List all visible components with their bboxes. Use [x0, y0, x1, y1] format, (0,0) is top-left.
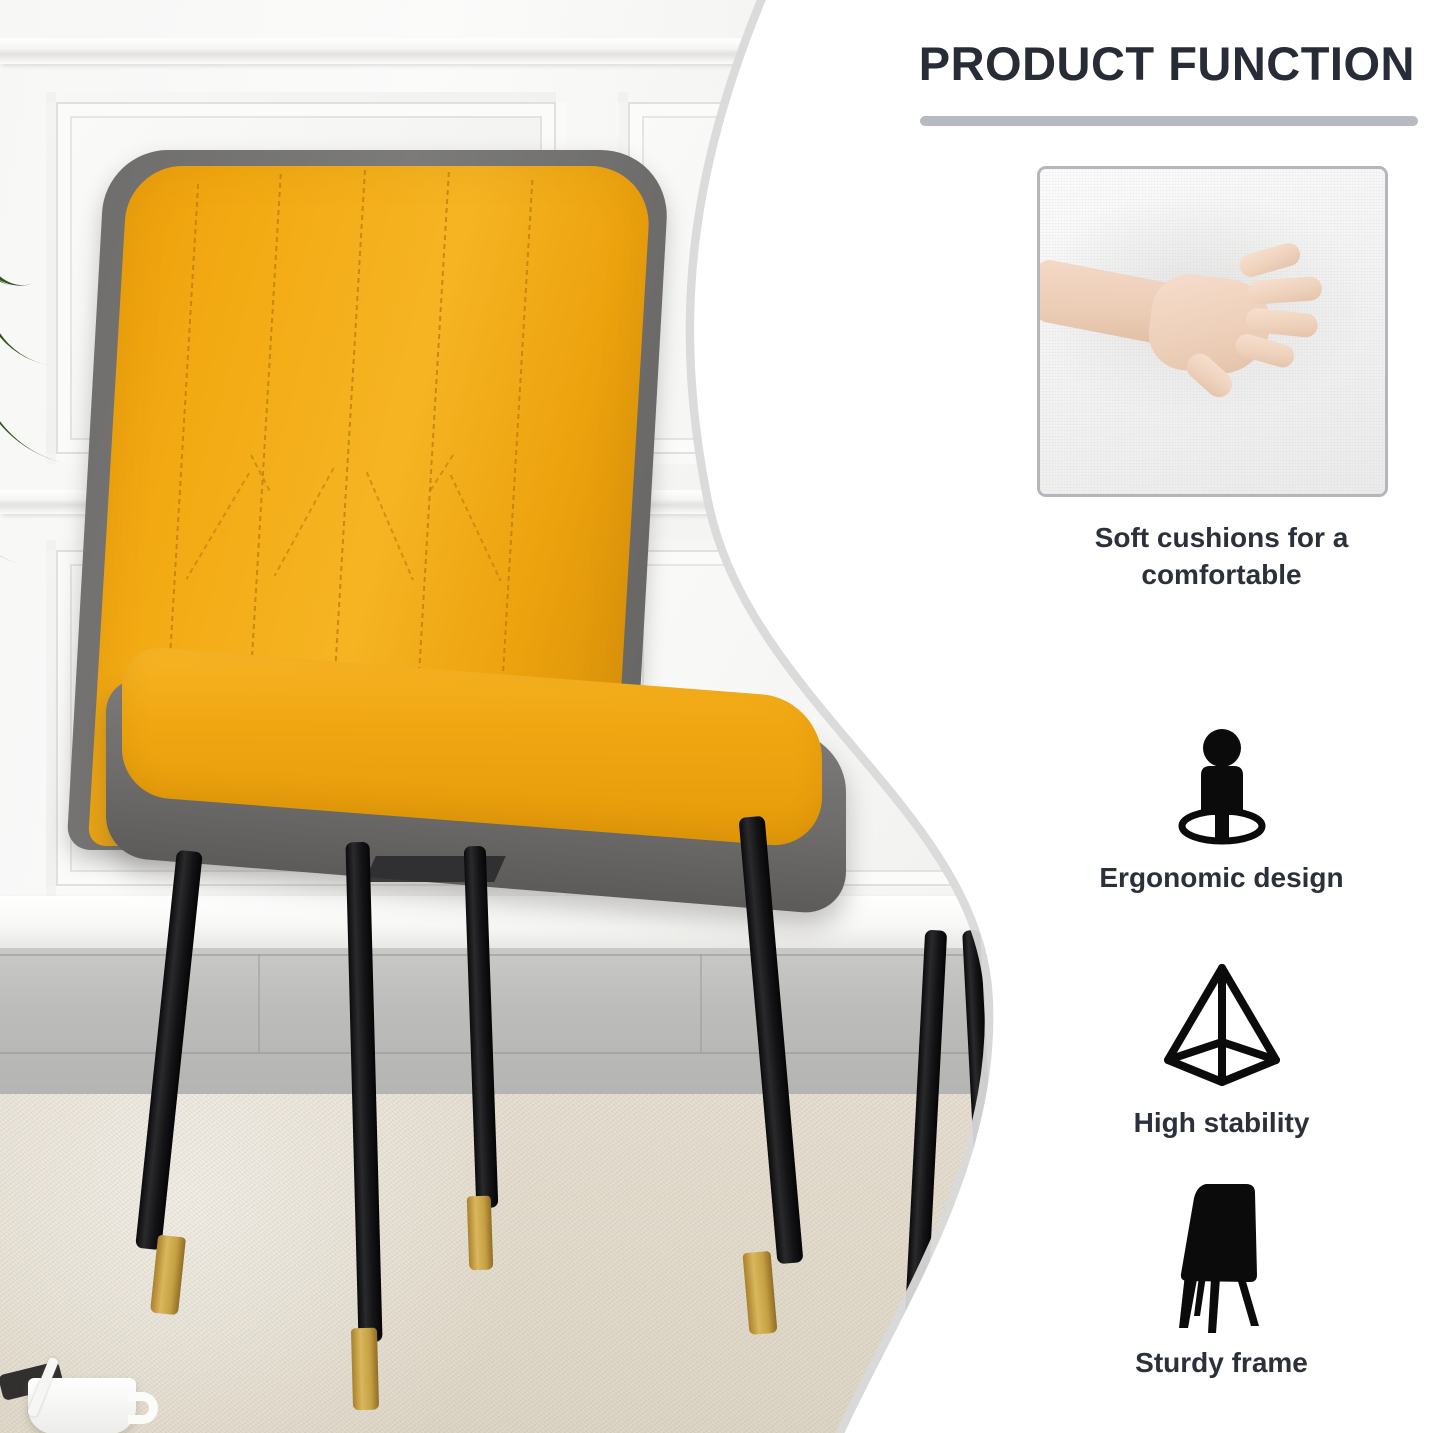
second-chair-partial — [905, 930, 1010, 1350]
page-title: PRODUCT FUNCTION — [810, 36, 1430, 91]
caption-line-2: comfortable — [1010, 557, 1433, 594]
chair-leg-tip — [467, 1196, 494, 1271]
title-divider-bar — [920, 116, 1418, 126]
feature-caption-soft-cushions: Soft cushions for a comfortable — [1010, 520, 1433, 594]
chair-leg — [135, 850, 203, 1251]
feature-panel: PRODUCT FUNCTION Soft cushions for a com… — [1010, 0, 1433, 1433]
finger — [1247, 276, 1322, 305]
wireframe-pyramid-icon — [1010, 960, 1433, 1090]
chair-leg-tip — [742, 1251, 777, 1335]
product-photo — [0, 0, 1010, 1433]
chair-leg — [464, 846, 499, 1209]
soft-cushion-photo-card — [1037, 166, 1388, 497]
feature-caption-high-stability: High stability — [1010, 1105, 1433, 1142]
chair-silhouette-icon — [1010, 1178, 1433, 1333]
product-infographic: PRODUCT FUNCTION Soft cushions for a com… — [0, 0, 1433, 1433]
chair — [70, 150, 880, 1350]
caption-line-1: Soft cushions for a — [1010, 520, 1433, 557]
feature-caption-sturdy-frame: Sturdy frame — [1010, 1345, 1433, 1382]
person-in-circle-icon — [1010, 728, 1433, 846]
chair-leg — [345, 842, 382, 1342]
chair-leg-tip — [351, 1328, 379, 1411]
feature-caption-ergonomic-design: Ergonomic design — [1010, 860, 1433, 897]
